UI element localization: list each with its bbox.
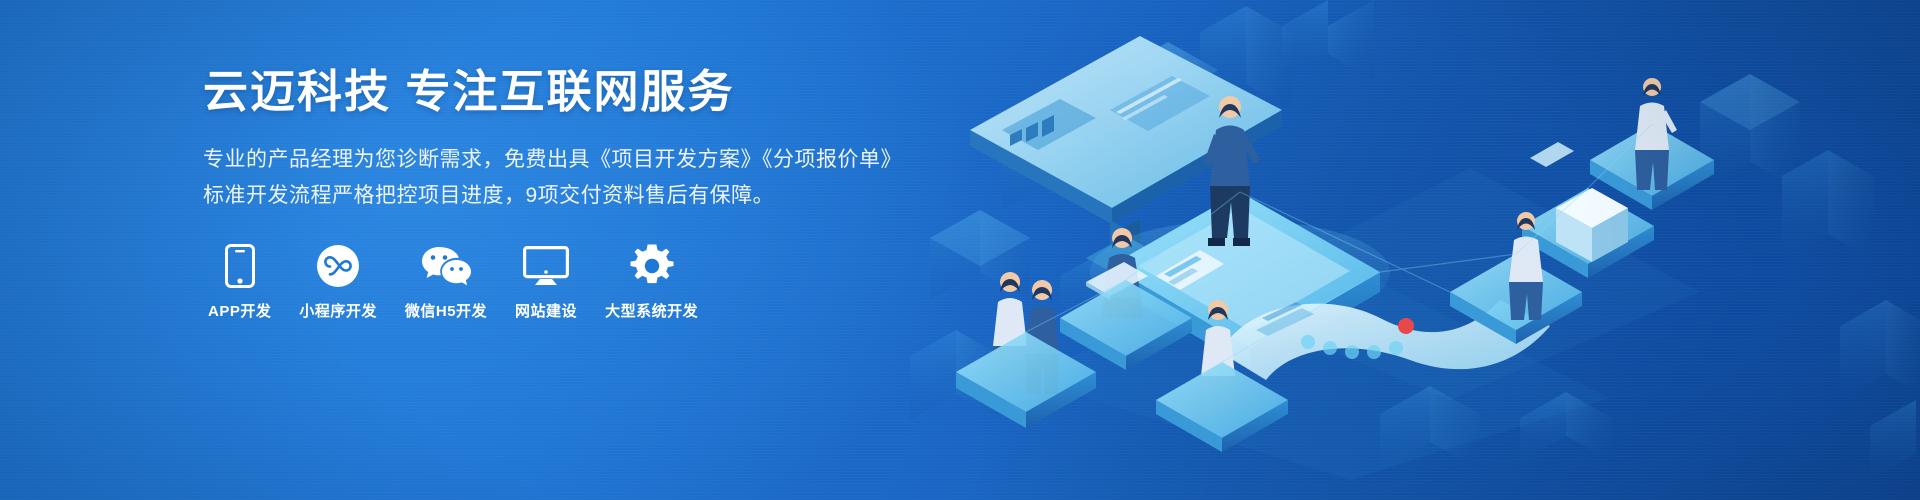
background-blocks (910, 0, 1920, 480)
subtitle-line-2: 标准开发流程严格把控项目进度，9项交付资料售后有保障。 (203, 178, 923, 214)
banner-subtitle: 专业的产品经理为您诊断需求，免费出具《项目开发方案》《分项报价单》 标准开发流程… (203, 142, 923, 214)
service-item-app[interactable]: APP开发 (208, 244, 271, 321)
service-item-system[interactable]: 大型系统开发 (605, 244, 698, 321)
floating-badge (1530, 142, 1574, 167)
monitor-icon (523, 244, 569, 288)
connector-lines (1026, 124, 1652, 362)
person-upper-right (1635, 78, 1677, 190)
page-title: 云迈科技 专注互联网服务 (203, 66, 923, 118)
subtitle-line-1: 专业的产品经理为您诊断需求，免费出具《项目开发方案》《分项报价单》 (203, 142, 923, 178)
service-label-system: 大型系统开发 (605, 300, 698, 321)
main-platform (1110, 192, 1380, 368)
person-lower-right (1201, 300, 1235, 416)
person-lower-left-b (1025, 280, 1059, 394)
service-item-website[interactable]: 网站建设 (515, 244, 577, 321)
lower-left-base-platform (956, 332, 1096, 428)
service-label-wechat: 微信H5开发 (405, 300, 487, 321)
person-mid-right (1509, 212, 1543, 320)
lower-left-platform (1060, 280, 1192, 370)
isometric-illustration (910, 0, 1920, 500)
hero-banner: 云迈科技 专注互联网服务 专业的产品经理为您诊断需求，免费出具《项目开发方案》《… (0, 0, 1920, 500)
mini-program-icon (316, 244, 360, 288)
floating-card (1156, 250, 1224, 290)
service-item-miniprogram[interactable]: 小程序开发 (299, 244, 377, 321)
mobile-phone-icon (225, 244, 255, 288)
wechat-icon (421, 244, 471, 288)
white-cube (1556, 188, 1628, 262)
step-platforms (1450, 124, 1714, 344)
banner-content: 云迈科技 专注互联网服务 专业的产品经理为您诊断需求，免费出具《项目开发方案》《… (203, 66, 923, 321)
service-label-app: APP开发 (208, 300, 271, 321)
person-presenter (1204, 96, 1260, 246)
gear-icon (630, 244, 674, 288)
dashboard-screen (970, 36, 1282, 278)
walkway-platform (1030, 168, 1700, 480)
service-label-miniprogram: 小程序开发 (299, 300, 377, 321)
lower-right-platform (1156, 362, 1288, 452)
person-lower-left-a (993, 272, 1027, 386)
service-label-website: 网站建设 (515, 300, 577, 321)
service-list: APP开发 小程序开发 (208, 244, 923, 321)
service-item-wechat[interactable]: 微信H5开发 (405, 244, 487, 321)
person-seated-laptop (1086, 228, 1148, 318)
data-ribbon (1220, 300, 1550, 380)
